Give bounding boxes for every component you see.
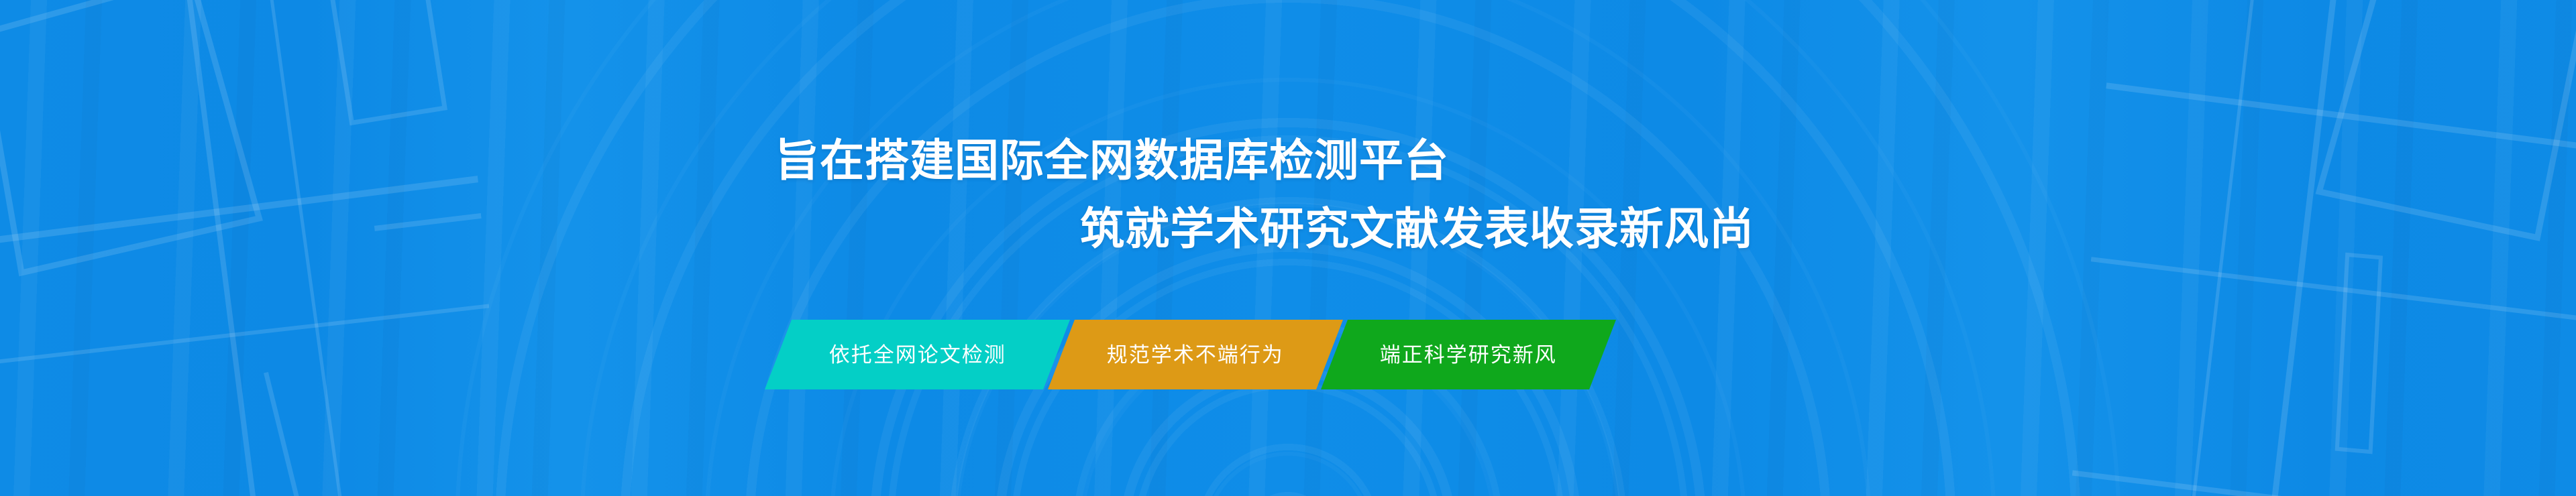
feature-badge-group: 依托全网论文检测 规范学术不端行为 端正科学研究新风 <box>778 320 1603 389</box>
promo-banner: 旨在搭建国际全网数据库检测平台 筑就学术研究文献发表收录新风尚 依托全网论文检测… <box>0 0 2576 496</box>
headline-block: 旨在搭建国际全网数据库检测平台 筑就学术研究文献发表收录新风尚 <box>775 126 1754 263</box>
headline-line-1: 旨在搭建国际全网数据库检测平台 <box>775 126 1754 194</box>
feature-badge-misconduct[interactable]: 规范学术不端行为 <box>1048 320 1343 389</box>
feature-badge-detection-label: 依托全网论文检测 <box>829 345 1006 365</box>
background-tech-grid-left <box>0 0 512 496</box>
feature-badge-detection[interactable]: 依托全网论文检测 <box>765 320 1070 389</box>
feature-badge-integrity[interactable]: 端正科学研究新风 <box>1321 320 1616 389</box>
background-tech-grid-right <box>2064 0 2576 496</box>
feature-badge-misconduct-label: 规范学术不端行为 <box>1107 345 1284 365</box>
headline-line-2: 筑就学术研究文献发表收录新风尚 <box>775 194 1754 263</box>
feature-badge-integrity-label: 端正科学研究新风 <box>1380 345 1557 365</box>
